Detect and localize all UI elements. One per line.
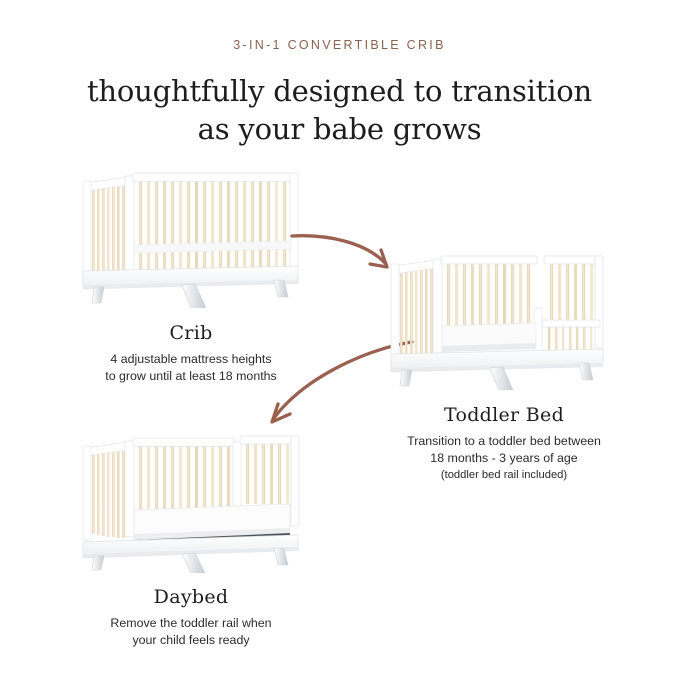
stage-caption-toddler-bed: Toddler Bed Transition to a toddler bed … <box>368 404 640 484</box>
crib-illustration <box>78 163 306 308</box>
page-title: thoughtfully designed to transition as y… <box>0 72 679 148</box>
stage-desc-line: 18 months - 3 years of age <box>368 450 640 467</box>
eyebrow-label: 3-IN-1 CONVERTIBLE CRIB <box>0 38 679 52</box>
stage-title-daybed: Daybed <box>62 586 320 608</box>
stage-caption-daybed: Daybed Remove the toddler rail when your… <box>62 586 320 649</box>
page-title-line-2: as your babe grows <box>0 110 679 148</box>
stage-desc-line: Transition to a toddler bed between <box>368 433 640 450</box>
stage-desc-line: 4 adjustable mattress heights <box>62 351 320 368</box>
stage-caption-crib: Crib 4 adjustable mattress heights to gr… <box>62 322 320 385</box>
stage-desc-line: your child feels ready <box>62 632 320 649</box>
stage-desc-note: (toddler bed rail included) <box>368 467 640 484</box>
stage-desc-line: to grow until at least 18 months <box>62 368 320 385</box>
stage-title-crib: Crib <box>62 322 320 344</box>
stage-title-toddler-bed: Toddler Bed <box>368 404 640 426</box>
daybed-illustration <box>78 428 306 573</box>
page-title-line-1: thoughtfully designed to transition <box>87 74 592 108</box>
toddler-bed-illustration <box>382 250 610 390</box>
stage-desc-line: Remove the toddler rail when <box>62 615 320 632</box>
